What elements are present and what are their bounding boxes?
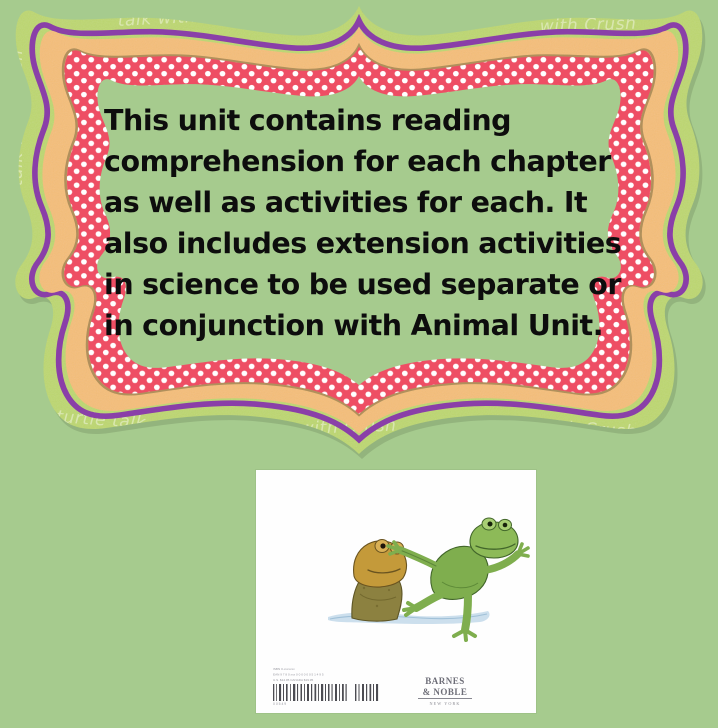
book-back-cover-svg: ISBN 0-xxxxxxx EAN 9 7 8 0 xxx 0 0 0 0 0…	[256, 470, 536, 713]
barcode-meta-line-2: EAN 9 7 8 0 xxx 0 0 0 0 0 0 5 1 4 9 5	[273, 673, 324, 677]
frame-texture-word: turtle talk	[392, 5, 483, 28]
page-body-paragraph: This unit contains reading comprehension…	[104, 100, 624, 346]
book-back-cover-image: ISBN 0-xxxxxxx EAN 9 7 8 0 xxx 0 0 0 0 0…	[256, 470, 536, 713]
publisher-line-2: & NOBLE	[423, 687, 468, 697]
frame-texture-word: with Crush	[299, 416, 396, 439]
frame-texture-word: talk with Crush	[699, 132, 718, 269]
frame-texture-word: talk with Crush	[500, 415, 638, 442]
publisher-line-3: NEW YORK	[429, 701, 460, 706]
barcode-digits: 0 0 5 4 9	[273, 702, 286, 706]
barcode-meta-line-1: ISBN 0-xxxxxxx	[273, 667, 295, 671]
frame-texture-word: with Crush	[539, 14, 636, 37]
slide-canvas: talk with Crush turtle talk with Crush t…	[0, 0, 718, 728]
frame-texture-word: turtle talk with Crush	[7, 49, 27, 242]
publisher-line-1: BARNES	[425, 676, 465, 686]
frame-texture-word: turtle talk	[56, 407, 148, 433]
barcode-meta-line-3: U.S. $14.95 CANADA $19.95	[273, 678, 314, 682]
frame-texture-word: talk with Crush	[117, 4, 255, 31]
